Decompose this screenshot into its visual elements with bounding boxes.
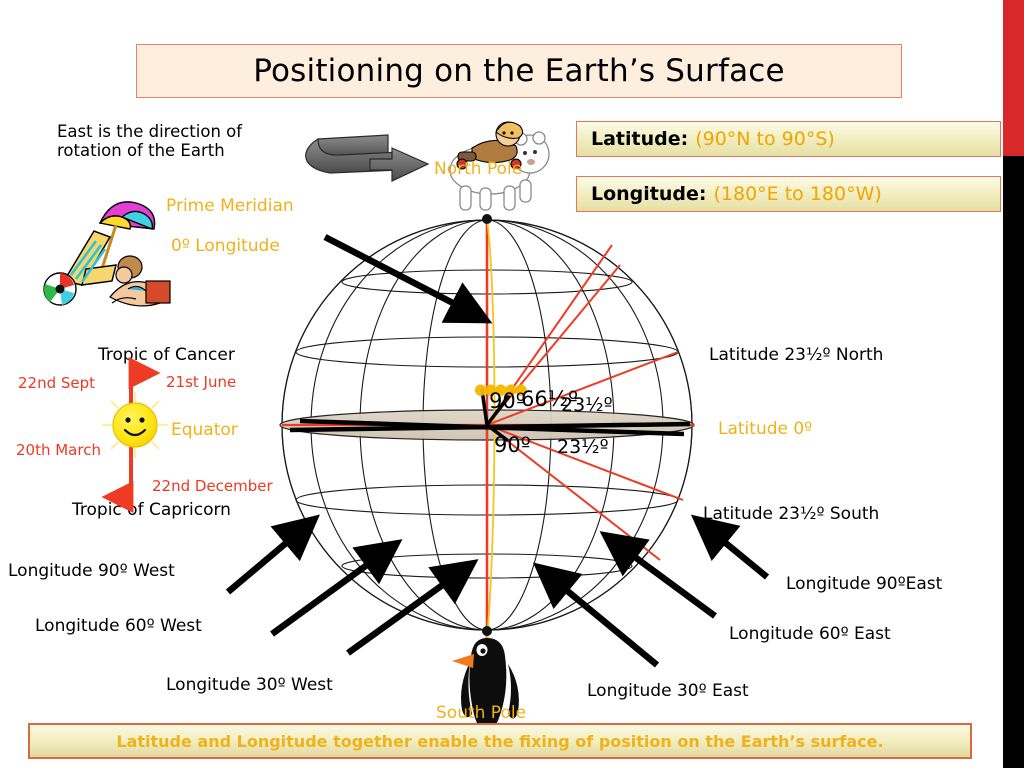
prime-meridian-label: Prime Meridian [166, 196, 294, 216]
longitude-legend-box: Longitude: (180°E to 180°W) [576, 176, 1001, 212]
longitude-90-west-label: Longitude 90º West [8, 561, 175, 581]
slide-canvas: Positioning on the Earth’s Surface Latit… [0, 0, 1024, 768]
angle-90-lower: 90º [494, 433, 531, 457]
zero-longitude-label: 0º Longitude [171, 236, 280, 256]
latitude-legend-value: (90°N to 90°S) [695, 128, 835, 150]
rotation-arrow-icon [306, 135, 428, 181]
east-rotation-note: East is the direction of rotation of the… [57, 122, 242, 161]
september-equinox-label: 22nd Sept [18, 375, 95, 393]
south-pole-label: South Pole [436, 703, 526, 723]
longitude-60-west-label: Longitude 60º West [35, 616, 202, 636]
east-rotation-line2: rotation of the Earth [57, 141, 242, 160]
banner-text: Latitude and Longitude together enable t… [116, 732, 883, 751]
latitude-legend-key: Latitude: [591, 128, 688, 150]
slide-title-box: Positioning on the Earth’s Surface [136, 44, 902, 98]
latitude-23-south-label: Latitude 23½º South [703, 504, 879, 524]
angle-23-half-lower: 23½º [557, 436, 609, 458]
beach-chair-umbrella-icon [38, 185, 178, 310]
latitude-0-label: Latitude 0º [718, 419, 812, 439]
equator-label: Equator [171, 420, 238, 440]
longitude-legend-value: (180°E to 180°W) [714, 183, 882, 205]
june-solstice-label: 21st June [166, 374, 236, 392]
december-solstice-label: 22nd December [152, 478, 273, 496]
march-equinox-label: 20th March [16, 442, 101, 460]
east-rotation-line1: East is the direction of [57, 122, 242, 141]
bottom-summary-banner: Latitude and Longitude together enable t… [28, 723, 972, 759]
angle-23-half-upper: 23½º [561, 394, 613, 416]
north-pole-label: North Pole [434, 159, 522, 179]
latitude-legend-box: Latitude: (90°N to 90°S) [576, 121, 1001, 157]
tropic-of-cancer-label: Tropic of Cancer [98, 345, 235, 365]
longitude-60-east-label: Longitude 60º East [729, 624, 891, 644]
prime-meridian-pointer [325, 237, 482, 318]
right-edge-red-bar [1003, 0, 1024, 156]
smiling-sun-icon [102, 392, 168, 458]
longitude-30-east-label: Longitude 30º East [587, 681, 749, 701]
longitude-legend-key: Longitude: [591, 183, 707, 205]
longitude-30-west-label: Longitude 30º West [166, 675, 333, 695]
tropic-of-capricorn-label: Tropic of Capricorn [72, 500, 231, 520]
longitude-90-east-label: Longitude 90ºEast [786, 574, 942, 594]
latitude-23-north-label: Latitude 23½º North [709, 345, 883, 365]
page-title: Positioning on the Earth’s Surface [253, 53, 785, 89]
right-edge-black-bar [1003, 156, 1024, 768]
